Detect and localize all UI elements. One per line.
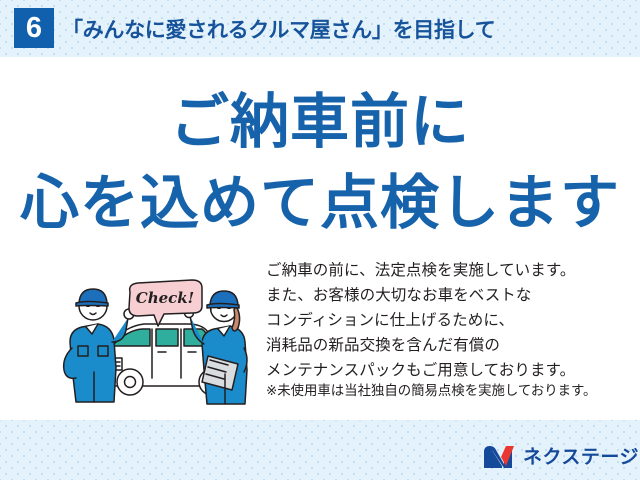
nextage-n-mark-icon bbox=[482, 444, 516, 470]
header-bar: 6 「みんなに愛されるクルマ屋さん」を目指して bbox=[0, 0, 640, 56]
body-line-4: 消耗品の新品交換を含んだ有償の bbox=[266, 333, 634, 358]
brand-logo: ネクステージ bbox=[482, 444, 639, 470]
headline-line-1: ご納車前に bbox=[0, 92, 640, 151]
body-line-5: メンテナンスパックもご用意しております。 bbox=[266, 358, 634, 383]
header-title: 「みんなに愛されるクルマ屋さん」を目指して bbox=[62, 14, 495, 44]
section-number-label: 6 bbox=[26, 14, 42, 43]
body-copy: ご納車の前に、法定点検を実施しています。 また、お客様の大切なお車をベストな コ… bbox=[266, 258, 634, 384]
headline-line-2: 心を込めて点検します bbox=[0, 173, 640, 232]
body-line-2: また、お客様の大切なお車をベストな bbox=[266, 283, 634, 308]
body-line-1: ご納車の前に、法定点検を実施しています。 bbox=[266, 258, 634, 283]
brand-name-label: ネクステージ bbox=[523, 448, 639, 467]
speech-bubble-text: Check! bbox=[136, 289, 195, 307]
mechanics-illustration: Check! bbox=[52, 272, 262, 412]
advertisement-slide: 6 「みんなに愛されるクルマ屋さん」を目指して ご納車前に 心を込めて点検します… bbox=[0, 0, 640, 480]
body-note: ※未使用車は当社独自の簡易点検を実施しております。 bbox=[266, 382, 638, 399]
body-line-3: コンディションに仕上げるために、 bbox=[266, 308, 634, 333]
section-number-badge: 6 bbox=[14, 8, 54, 48]
